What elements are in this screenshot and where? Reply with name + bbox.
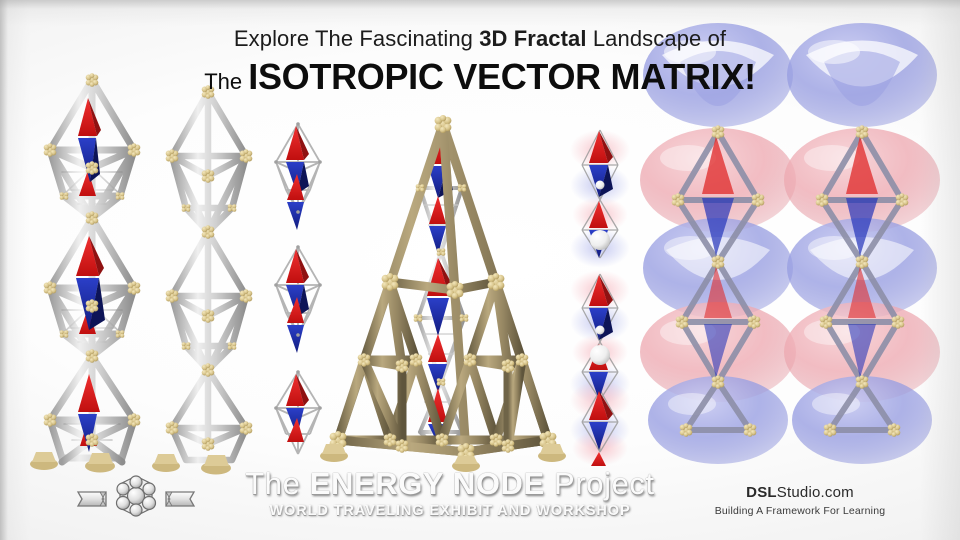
project-title-pre: The: [245, 466, 309, 501]
tetra-energy-stack: [570, 130, 630, 466]
headline-title: ISOTROPIC VECTOR MATRIX!: [248, 56, 756, 97]
headline-line-1: Explore The Fascinating 3D Fractal Lands…: [0, 26, 960, 52]
poster-canvas: Explore The Fascinating 3D Fractal Lands…: [0, 0, 960, 540]
headline-pre: Explore The Fascinating: [234, 26, 479, 51]
project-title-emphasis: ENERGY NODE: [310, 466, 545, 501]
brand-name-bold: DSL: [746, 484, 777, 501]
brand-name[interactable]: DSLStudio.com: [660, 484, 940, 501]
headline-the: The: [204, 69, 248, 94]
headline-emphasis: 3D Fractal: [479, 26, 586, 51]
sierpinski-tetrahedron-frame: [320, 115, 566, 472]
logo-strut-right: [166, 492, 194, 506]
wireframe-tetra-units: [274, 122, 322, 454]
project-title-post: Project: [545, 466, 655, 501]
headline-post: Landscape of: [587, 26, 727, 51]
logo-strut-left: [78, 492, 106, 506]
project-title: The ENERGY NODE Project: [180, 466, 720, 502]
logo-hub-node: [117, 476, 156, 516]
brand-tagline: Building A Framework For Learning: [660, 505, 940, 517]
project-title-block: The ENERGY NODE Project WORLD TRAVELING …: [180, 466, 720, 519]
project-subtitle: WORLD TRAVELING EXHIBIT AND WORKSHOP: [180, 503, 720, 519]
brand-name-rest: Studio.com: [777, 484, 854, 501]
headline-line-2: The ISOTROPIC VECTOR MATRIX!: [0, 56, 960, 98]
brand-block[interactable]: DSLStudio.com Building A Framework For L…: [660, 484, 940, 517]
energy-node-logo[interactable]: [76, 472, 196, 520]
octahedral-frame-tower: [152, 85, 252, 474]
octahedral-fractal-tower: [30, 73, 140, 472]
